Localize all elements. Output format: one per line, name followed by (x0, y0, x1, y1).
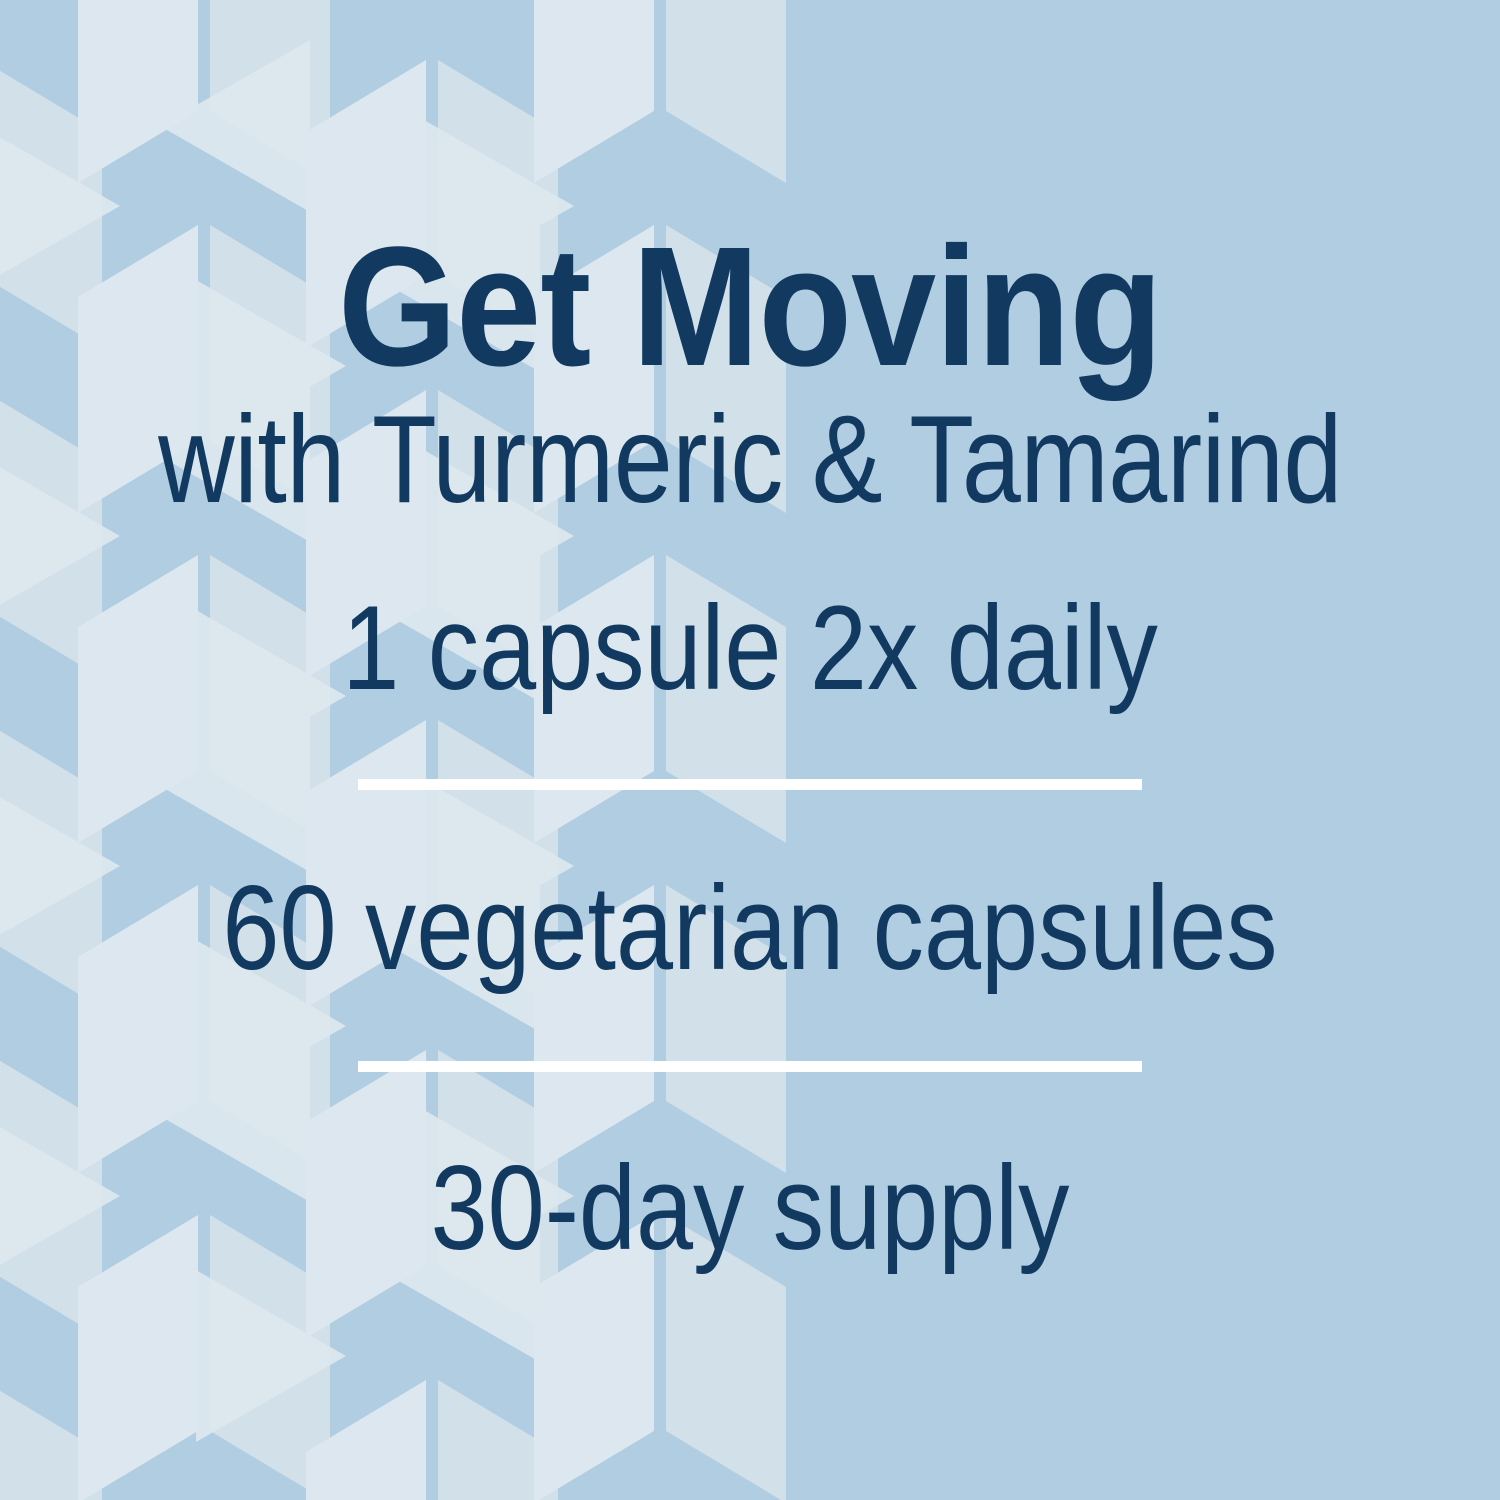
subheadline: with Turmeric & Tamarind (109, 398, 1392, 522)
fact-dosage: 1 capsule 2x daily (109, 588, 1392, 708)
text-content-layer: Get Moving with Turmeric & Tamarind 1 ca… (0, 0, 1500, 1500)
fact-count: 60 vegetarian capsules (109, 868, 1392, 988)
divider-2 (358, 1061, 1142, 1072)
product-feature-graphic: Get Moving with Turmeric & Tamarind 1 ca… (0, 0, 1500, 1500)
fact-supply: 30-day supply (109, 1148, 1392, 1268)
divider-1 (358, 779, 1142, 790)
headline: Get Moving (75, 222, 1425, 392)
